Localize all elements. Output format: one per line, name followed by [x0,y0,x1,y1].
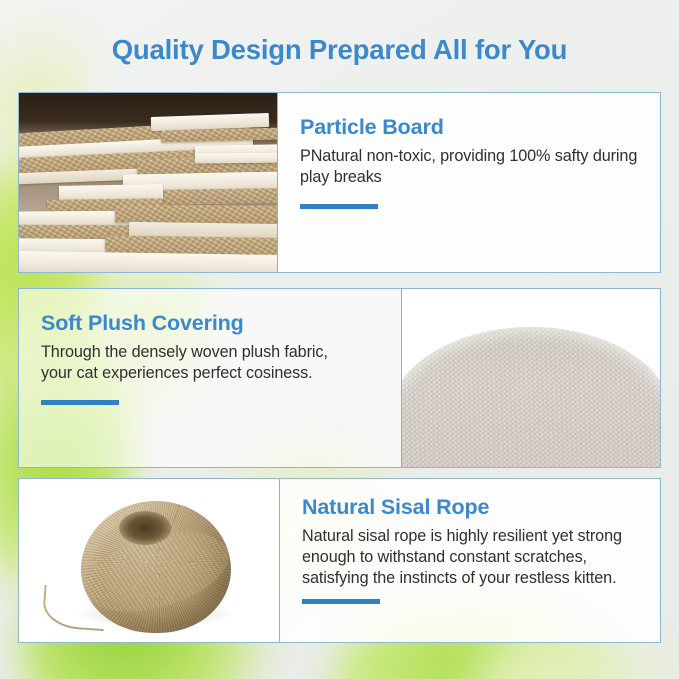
feature-card-soft-plush-covering: Soft Plush Covering Through the densely … [18,288,661,468]
board-plank [115,204,277,223]
accent-bar [300,204,378,209]
feature-card-natural-sisal-rope: Natural Sisal Rope Natural sisal rope is… [18,478,661,643]
feature-card-particle-board: Particle Board PNatural non-toxic, provi… [18,92,661,273]
feature-card-body: Particle Board PNatural non-toxic, provi… [277,93,660,272]
card-description: Through the densely woven plush fabric, … [41,342,341,385]
card-heading: Natural Sisal Rope [302,495,640,520]
board-plank [195,152,277,163]
board-plank [161,128,277,143]
feature-card-body: Soft Plush Covering Through the densely … [19,289,402,467]
rope-loose-strand [42,585,107,631]
rope-center-hole [119,511,171,545]
card-heading: Particle Board [300,115,640,140]
board-plank [19,251,277,272]
plush-fabric-scene [402,289,660,467]
accent-bar [302,599,380,604]
plush-fabric-photo [402,289,660,467]
sisal-rope-photo [19,479,279,642]
page-title: Quality Design Prepared All for You [0,34,679,66]
card-description: PNatural non-toxic, providing 100% safty… [300,146,640,189]
product-feature-infographic: Quality Design Prepared All for You [0,0,679,679]
card-description: Natural sisal rope is highly resilient y… [302,526,640,590]
sisal-rope-scene [19,479,279,642]
particle-board-photo [19,93,277,272]
accent-bar [41,400,119,405]
particle-board-scene [19,93,277,272]
card-heading: Soft Plush Covering [41,311,381,336]
plush-dome [402,327,660,467]
feature-card-body: Natural Sisal Rope Natural sisal rope is… [279,479,660,642]
